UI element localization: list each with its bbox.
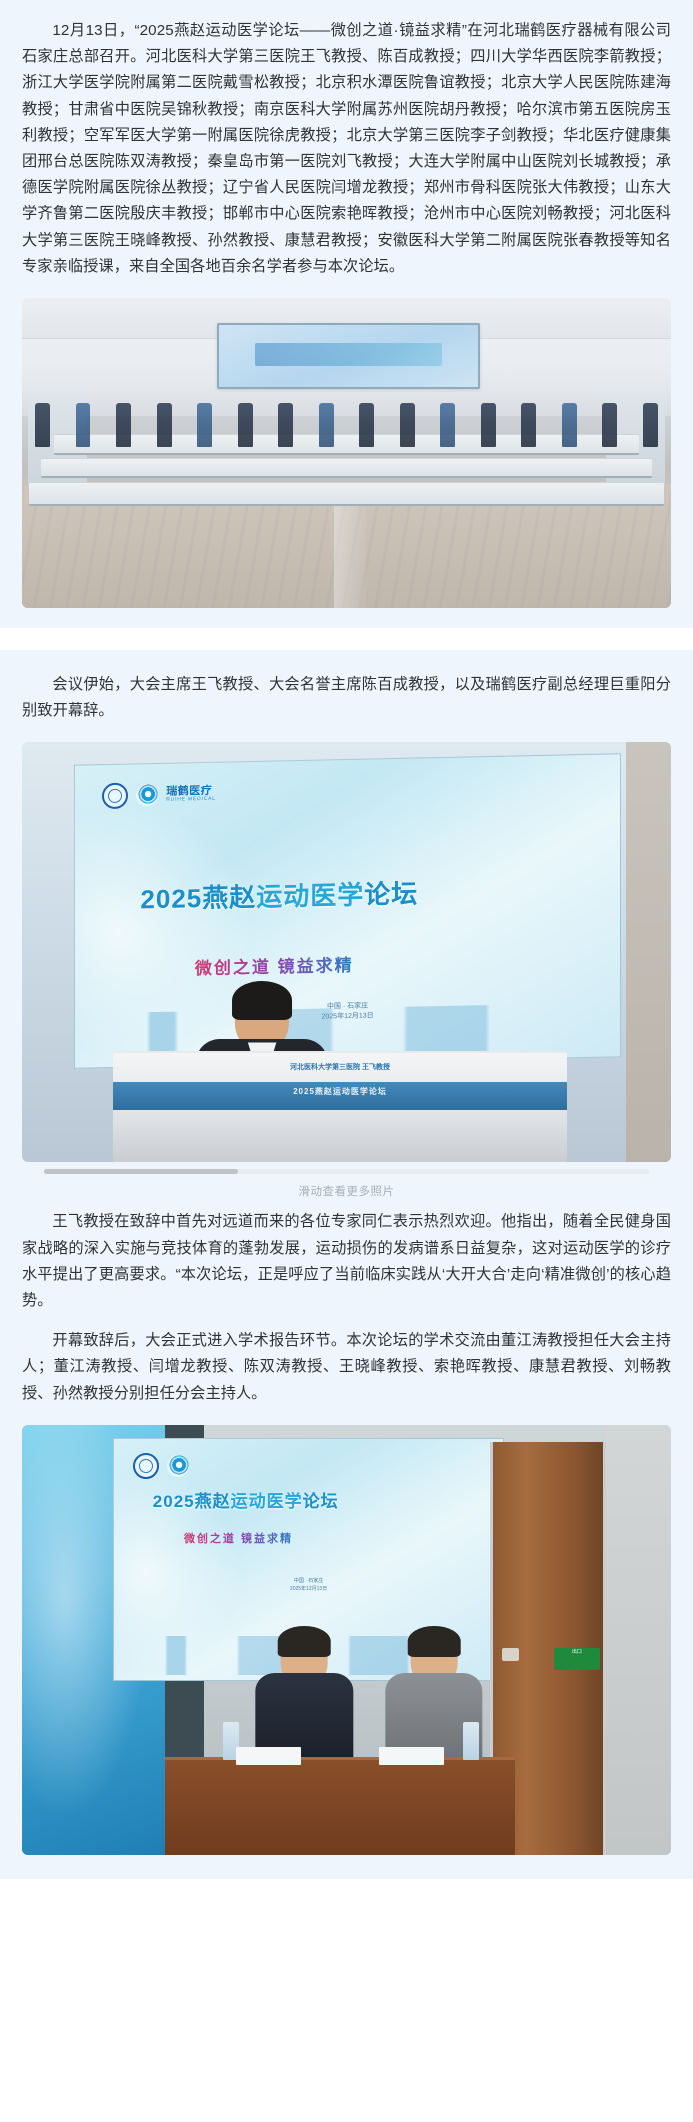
attendee: [319, 403, 334, 446]
slide-title-year: 2025燕赵: [153, 1492, 231, 1511]
card2-photo2-wrap: 瑞鹤医疗 RUIHE MEDICAL 2025燕赵运动医学论坛 微创之道 镜益求…: [0, 742, 693, 1199]
slide-logo-group: [133, 1453, 189, 1479]
conference-hall-photo[interactable]: [22, 298, 671, 608]
slide-title-year: 2025燕赵: [140, 882, 256, 914]
card1-intro-paragraph: 12月13日，“2025燕赵运动医学论坛——微创之道·镜益求精”在河北瑞鹤医疗器…: [0, 18, 693, 280]
presentation-slide: 瑞鹤医疗 RUIHE MEDICAL 2025燕赵运动医学论坛 微创之道 镜益求…: [74, 754, 621, 1070]
person-hair: [408, 1626, 461, 1657]
attendee: [116, 403, 131, 446]
card2-paragraph-2: 王飞教授在致辞中首先对远道而来的各位专家同仁表示热烈欢迎。他指出，随着全民健身国…: [0, 1209, 693, 1314]
attendee: [400, 403, 415, 446]
attendee: [157, 403, 172, 446]
attendee: [238, 403, 253, 446]
slide-title-main: 运动医学: [231, 1492, 303, 1511]
ruihe-swirl-icon: [136, 784, 158, 806]
exit-sign: 出口: [554, 1648, 599, 1670]
article-page: 12月13日，“2025燕赵运动医学论坛——微创之道·镜益求精”在河北瑞鹤医疗器…: [0, 0, 693, 1879]
session-chairs-photo[interactable]: 2025燕赵运动医学论坛 微创之道 镜益求精 中国 · 石家庄 2025年12月…: [22, 1425, 671, 1855]
slide-main-title: 2025燕赵运动医学论坛: [153, 1487, 488, 1512]
card1-photo-wrap: [0, 298, 693, 608]
podium-line-1: 河北医科大学第三医院 王飞教授: [113, 1062, 567, 1072]
ruihe-brand-text: 瑞鹤医疗 RUIHE MEDICAL: [166, 786, 216, 804]
hall-scene: [22, 298, 671, 608]
ruihe-swirl-icon: [167, 1455, 189, 1477]
card-separator-gap: [0, 628, 693, 650]
photo-scrollbar[interactable]: [44, 1169, 649, 1174]
room-scene: 2025燕赵运动医学论坛 微创之道 镜益求精 中国 · 石家庄 2025年12月…: [22, 1425, 671, 1855]
slide-logo-group: 瑞鹤医疗 RUIHE MEDICAL: [102, 781, 216, 809]
speaker-hair: [232, 981, 292, 1020]
attendee: [643, 403, 658, 446]
slide-title-main: 运动医学: [256, 880, 364, 912]
table-row: [41, 458, 651, 479]
slide-title-suffix: 论坛: [364, 879, 418, 910]
attendee: [521, 403, 536, 446]
attendee: [197, 403, 212, 446]
article-card-2: 会议伊始，大会主席王飞教授、大会名誉主席陈百成教授，以及瑞鹤医疗副总经理巨重阳分…: [0, 650, 693, 1879]
attendee: [35, 403, 50, 446]
name-card: [236, 1747, 301, 1764]
hall-projection-screen: [217, 323, 481, 389]
attendee: [562, 403, 577, 446]
stage-scene: 瑞鹤医疗 RUIHE MEDICAL 2025燕赵运动医学论坛 微创之道 镜益求…: [22, 742, 671, 1162]
podium: 河北医科大学第三医院 王飞教授 2025燕赵运动医学论坛: [113, 1051, 567, 1162]
hospital-emblem-icon: [102, 783, 128, 810]
name-card: [379, 1747, 444, 1764]
stage-right-wall: [626, 742, 671, 1162]
brand-en: RUIHE MEDICAL: [166, 797, 216, 803]
article-card-1: 12月13日，“2025燕赵运动医学论坛——微创之道·镜益求精”在河北瑞鹤医疗器…: [0, 0, 693, 628]
attendee: [359, 403, 374, 446]
keynote-speech-photo[interactable]: 瑞鹤医疗 RUIHE MEDICAL 2025燕赵运动医学论坛 微创之道 镜益求…: [22, 742, 671, 1162]
slide-main-title: 2025燕赵运动医学论坛: [140, 870, 598, 917]
photo-scrollbar-thumb[interactable]: [44, 1169, 238, 1174]
chair-table: [165, 1757, 515, 1855]
slide-location: 中国 · 石家庄: [114, 1578, 503, 1586]
water-bottle: [463, 1722, 479, 1761]
photo-scroll-caption: 滑动查看更多照片: [22, 1183, 671, 1199]
slide-title-suffix: 论坛: [303, 1492, 339, 1511]
slide-meta: 中国 · 石家庄 2025年12月13日: [114, 1578, 503, 1593]
room-right-wall: [606, 1425, 671, 1855]
attendee: [440, 403, 455, 446]
hospital-emblem-icon: [133, 1453, 159, 1479]
card2-photo3-wrap: 2025燕赵运动医学论坛 微创之道 镜益求精 中国 · 石家庄 2025年12月…: [0, 1425, 693, 1855]
slide-subtitle: 微创之道 镜益求精: [184, 1530, 293, 1546]
attendee: [481, 403, 496, 446]
attendee: [278, 403, 293, 446]
attendee: [602, 403, 617, 446]
podium-line-2: 2025燕赵运动医学论坛: [113, 1086, 567, 1097]
hall-attendees: [35, 403, 658, 446]
card2-paragraph-3: 开幕致辞后，大会正式进入学术报告环节。本次论坛的学术交流由董江涛教授担任大会主持…: [0, 1328, 693, 1407]
slide-subtitle: 微创之道 镜益求精: [195, 951, 354, 979]
person-hair: [278, 1626, 331, 1657]
chair-person-left: [256, 1631, 353, 1760]
attendee: [76, 403, 91, 446]
card2-paragraph-1: 会议伊始，大会主席王飞教授、大会名誉主席陈百成教授，以及瑞鹤医疗副总经理巨重阳分…: [0, 672, 693, 724]
table-row: [29, 482, 663, 505]
slide-date: 2025年12月13日: [114, 1586, 503, 1594]
